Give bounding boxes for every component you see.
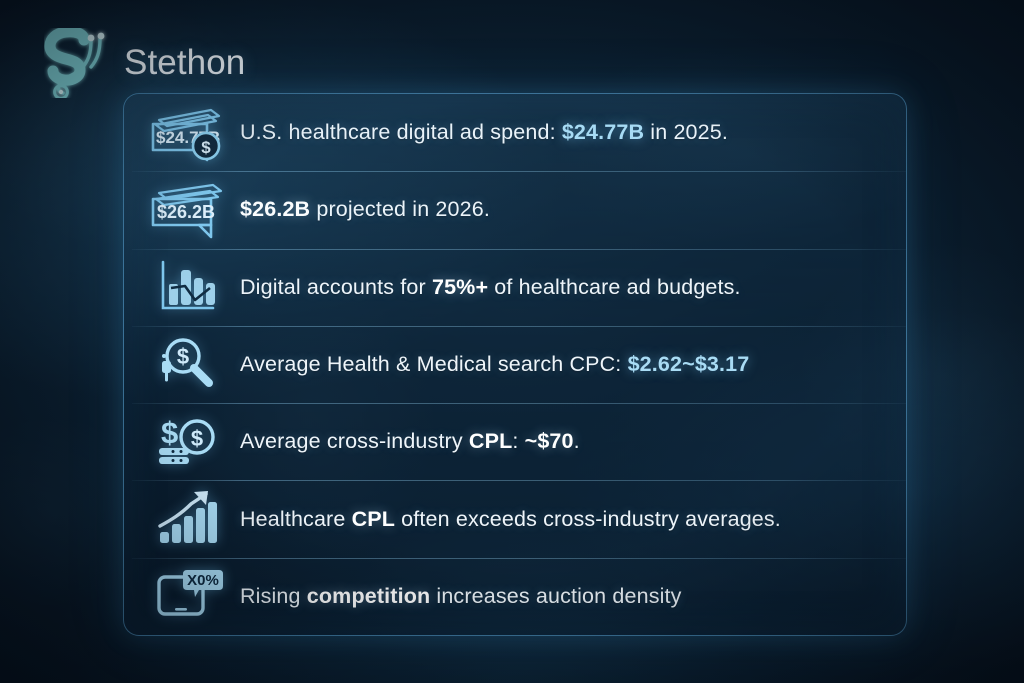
text-segment: often exceeds cross-industry averages. (395, 507, 781, 531)
growth-arrow-chart-icon (140, 480, 236, 557)
stats-row: $ Average Health & Medical search CPC: $… (124, 326, 906, 403)
stats-row-text: $26.2B projected in 2026. (236, 196, 888, 223)
brand-name: Stethon (124, 43, 245, 83)
text-segment: Average Health & Medical search CPC: (240, 352, 628, 376)
text-segment: Rising (240, 584, 307, 608)
bar-chart-icon (140, 249, 236, 326)
stethoscope-s-logo-icon (44, 28, 118, 98)
svg-text:$: $ (161, 415, 178, 450)
stats-row-text: Digital accounts for 75%+ of healthcare … (236, 274, 888, 301)
stats-row-text: Healthcare CPL often exceeds cross-indus… (236, 506, 888, 533)
brand-logo: Stethon (44, 28, 245, 98)
text-segment: Digital accounts for (240, 275, 432, 299)
text-segment: Average cross-industry (240, 429, 469, 453)
svg-text:$: $ (177, 344, 189, 369)
text-segment: of healthcare ad budgets. (488, 275, 741, 299)
text-segment: : (512, 429, 524, 453)
stats-row-list: $24.77B $ U.S. healthcare digital ad spe… (124, 94, 906, 635)
stats-row: $ $ (124, 403, 906, 480)
text-segment: increases auction density (430, 584, 681, 608)
stats-row: Digital accounts for 75%+ of healthcare … (124, 249, 906, 326)
cash-stack-26-2b-icon: $26.2B (140, 171, 236, 248)
dollar-coin-bills-icon: $ $ (140, 403, 236, 480)
stats-row: X0% Rising competition increases auction… (124, 558, 906, 635)
highlight-value: $2.62~$3.17 (628, 352, 750, 376)
svg-text:$: $ (201, 138, 211, 157)
stats-row-text: Average cross-industry CPL: ~$70. (236, 428, 888, 455)
highlight-value: $24.77B (562, 120, 644, 144)
infographic-slide: Stethon $24.77B $ (0, 0, 1024, 683)
svg-text:$26.2B: $26.2B (157, 202, 215, 222)
highlight-value: competition (307, 584, 430, 608)
stats-row-text: Rising competition increases auction den… (236, 583, 888, 610)
cash-stack-24-77b-icon: $24.77B $ (140, 94, 236, 171)
svg-text:$: $ (191, 426, 203, 451)
highlight-value: ~$70 (525, 429, 574, 453)
stats-row: $26.2B $26.2B projected in 2026. (124, 171, 906, 248)
text-segment: . (574, 429, 580, 453)
tablet-percent-bubble-icon: X0% (140, 558, 236, 635)
text-segment: Healthcare (240, 507, 352, 531)
stats-row-text: U.S. healthcare digital ad spend: $24.77… (236, 119, 888, 146)
highlight-value: CPL (469, 429, 512, 453)
highlight-value: 75%+ (432, 275, 488, 299)
text-segment: projected in 2026. (310, 197, 490, 221)
stats-row-text: Average Health & Medical search CPC: $2.… (236, 351, 888, 378)
highlight-value: $26.2B (240, 197, 310, 221)
text-segment: U.S. healthcare digital ad spend: (240, 120, 562, 144)
text-segment: in 2025. (644, 120, 728, 144)
stats-row: Healthcare CPL often exceeds cross-indus… (124, 480, 906, 557)
stats-panel: $24.77B $ U.S. healthcare digital ad spe… (123, 93, 907, 636)
stats-row: $24.77B $ U.S. healthcare digital ad spe… (124, 94, 906, 171)
magnifier-dollar-icon: $ (140, 326, 236, 403)
highlight-value: CPL (352, 507, 395, 531)
svg-text:X0%: X0% (187, 572, 219, 589)
